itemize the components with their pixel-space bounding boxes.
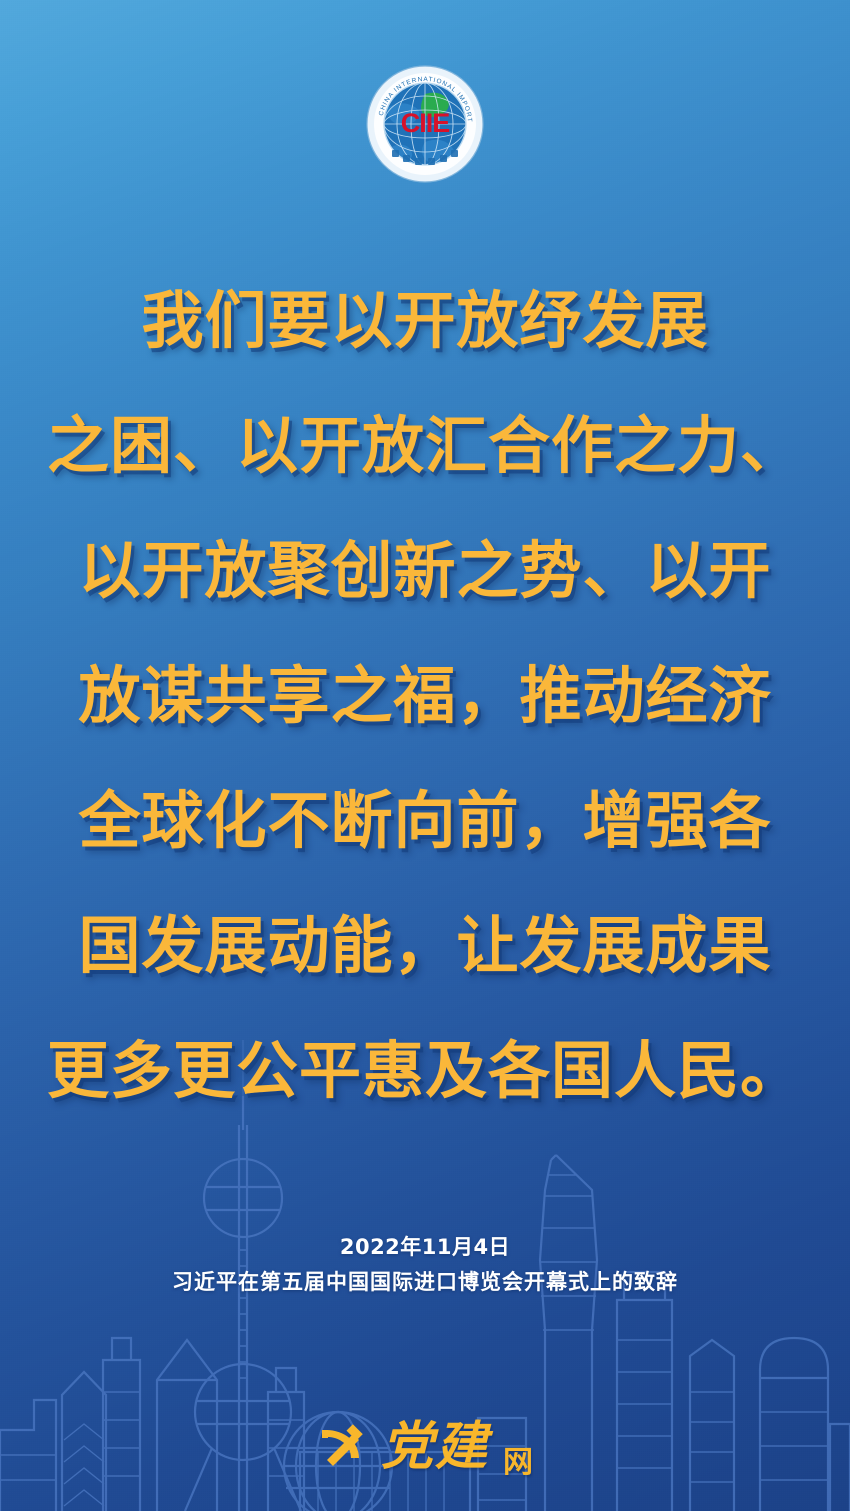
pointed-roof-building — [157, 1340, 217, 1511]
attribution-block: 2022年11月4日 习近平在第五届中国国际进口博览会开幕式上的致辞 — [0, 1232, 850, 1300]
hammer-and-sickle-icon — [317, 1422, 367, 1472]
ciie-logo: CHINA INTERNATIONAL IMPORT EXPO 中国国际进口博览… — [365, 64, 485, 184]
site-brand[interactable]: 党建 网 — [317, 1411, 533, 1483]
headline-line-1: 我们要以开放纾发展 — [0, 258, 850, 383]
shanghai-tower-outline — [540, 1155, 597, 1511]
left-slim-tower — [103, 1338, 140, 1511]
brand-name: 党建 — [381, 1421, 489, 1473]
headline-line-3: 以开放聚创新之势、以开 — [0, 508, 850, 633]
headline-block: 我们要以开放纾发展 之困、以开放汇合作之力、 以开放聚创新之势、以开 放谋共享之… — [0, 258, 850, 1133]
headline-line-7: 更多更公平惠及各国人民。 — [0, 1008, 850, 1133]
speech-source: 习近平在第五届中国国际进口博览会开幕式上的致辞 — [0, 1264, 850, 1300]
chevron-facade-tower — [62, 1372, 106, 1511]
jin-mao-tower-outline — [617, 1272, 672, 1511]
headline-line-6: 国发展动能，让发展成果 — [0, 883, 850, 1008]
speech-date: 2022年11月4日 — [0, 1232, 850, 1262]
oriental-pearl-tower-outline — [185, 1096, 301, 1511]
headline-line-2: 之困、以开放汇合作之力、 — [0, 383, 850, 508]
mid-left-highrise — [268, 1368, 304, 1511]
far-right-rounded-tower — [760, 1338, 828, 1511]
far-left-block — [0, 1400, 56, 1511]
right-edge-block — [830, 1424, 850, 1511]
headline-line-5: 全球化不断向前，增强各 — [0, 758, 850, 883]
brand-suffix: 网 — [503, 1448, 533, 1483]
logo-acronym: CIIE — [401, 108, 450, 138]
poster-canvas: CHINA INTERNATIONAL IMPORT EXPO 中国国际进口博览… — [0, 0, 850, 1511]
headline-line-4: 放谋共享之福，推动经济 — [0, 633, 850, 758]
right-angular-tower — [690, 1340, 734, 1511]
